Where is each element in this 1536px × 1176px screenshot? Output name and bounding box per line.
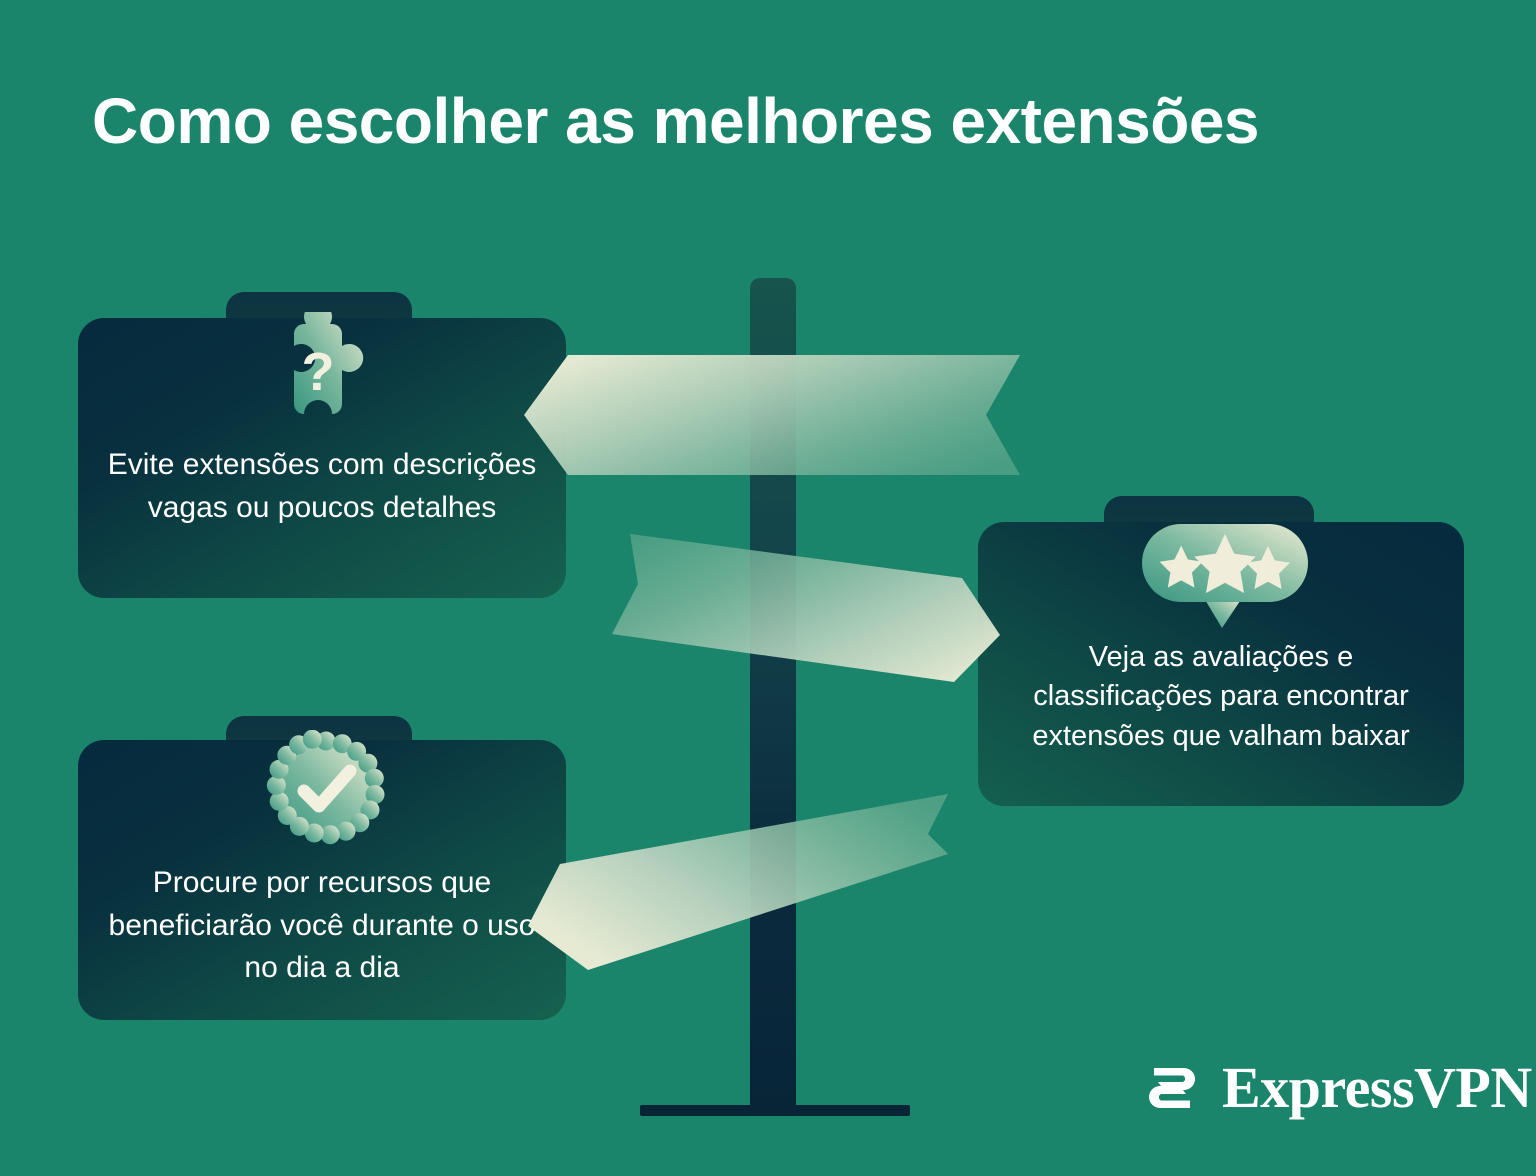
signpost-arrow-right-middle <box>608 522 1020 692</box>
puzzle-piece-question-icon: ? <box>256 312 380 436</box>
star-rating-speech-bubble-icon <box>1140 520 1310 630</box>
signpost-arrow-left-bottom <box>528 768 948 984</box>
svg-text:?: ? <box>302 342 335 402</box>
expressvpn-wordmark: ExpressVPN <box>1222 1059 1532 1117</box>
expressvpn-e-mark-icon <box>1136 1052 1208 1124</box>
verified-check-badge-icon <box>266 730 386 850</box>
expressvpn-logo: ExpressVPN <box>1136 1052 1532 1124</box>
card-1-text: Evite extensões com descrições vagas ou … <box>78 444 566 529</box>
infographic-canvas: Como escolher as melhores extensões <box>0 0 1536 1176</box>
card-2-text: Veja as avaliações e classificações para… <box>978 638 1464 756</box>
card-3-text: Procure por recursos que beneficiarão vo… <box>78 862 566 990</box>
page-title: Como escolher as melhores extensões <box>92 88 1472 155</box>
signpost-base <box>640 1105 910 1116</box>
signpost-arrow-left-top <box>524 342 1020 482</box>
